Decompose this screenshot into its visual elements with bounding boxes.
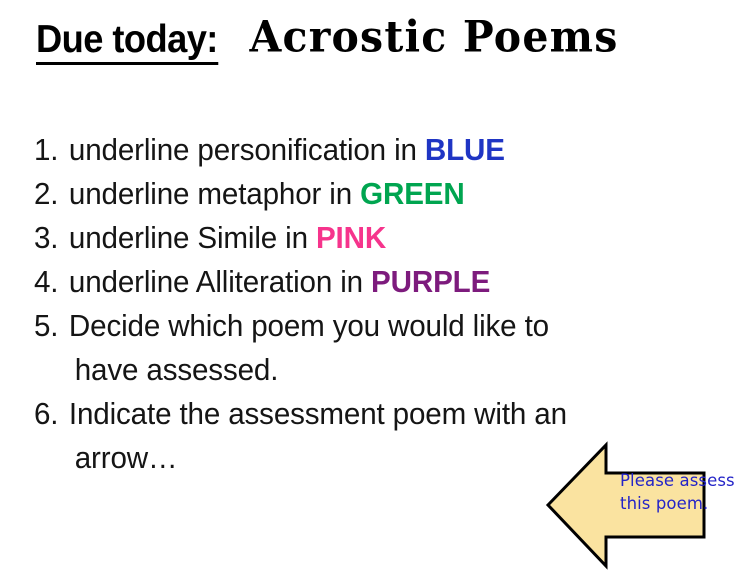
callout-line-2: this poem.	[620, 492, 704, 515]
list-item-text: underline metaphor in	[69, 177, 360, 211]
list-item-number: 4.	[34, 260, 69, 304]
list-item-text: underline personification in	[69, 133, 425, 167]
list-item-continuation: have assessed.	[69, 348, 686, 392]
list-item: 4. underline Alliteration in PURPLE	[34, 260, 686, 304]
list-item-keyword: GREEN	[360, 177, 464, 211]
list-item-body: underline personification in BLUE	[69, 128, 686, 172]
list-item-text: Indicate the assessment poem with an	[69, 397, 567, 431]
slide-canvas: Due today: Acrostic Poems 1. underline p…	[0, 0, 743, 582]
list-item-text: underline Simile in	[69, 221, 316, 255]
list-item-number: 2.	[34, 172, 69, 216]
list-item-number: 1.	[34, 128, 69, 172]
list-item-text: Decide which poem you would like to	[69, 309, 549, 343]
list-item-body: underline Simile in PINK	[69, 216, 686, 260]
page-title: Due today: Acrostic Poems	[36, 18, 619, 65]
list-item-body: Decide which poem you would like tohave …	[69, 304, 686, 392]
list-item-body: underline Alliteration in PURPLE	[69, 260, 686, 304]
list-item-keyword: BLUE	[425, 133, 505, 167]
list-item-text: underline Alliteration in	[69, 265, 371, 299]
instruction-list: 1. underline personification in BLUE 2. …	[34, 128, 706, 480]
list-item: 3. underline Simile in PINK	[34, 216, 686, 260]
list-item-number: 3.	[34, 216, 69, 260]
callout-text: Please assess this poem.	[620, 469, 704, 515]
callout-line-1: Please assess	[620, 469, 704, 492]
list-item: 1. underline personification in BLUE	[34, 128, 686, 172]
list-item-number: 6.	[34, 392, 69, 436]
title-topic: Acrostic Poems	[250, 16, 619, 59]
list-item: 2. underline metaphor in GREEN	[34, 172, 686, 216]
list-item-body: underline metaphor in GREEN	[69, 172, 686, 216]
list-item-keyword: PINK	[316, 221, 386, 255]
list-item-number: 5.	[34, 304, 69, 348]
list-item-keyword: PURPLE	[371, 265, 490, 299]
list-item: 5. Decide which poem you would like toha…	[34, 304, 686, 392]
title-due-today: Due today:	[36, 20, 218, 65]
assess-callout: Please assess this poem.	[544, 440, 708, 574]
